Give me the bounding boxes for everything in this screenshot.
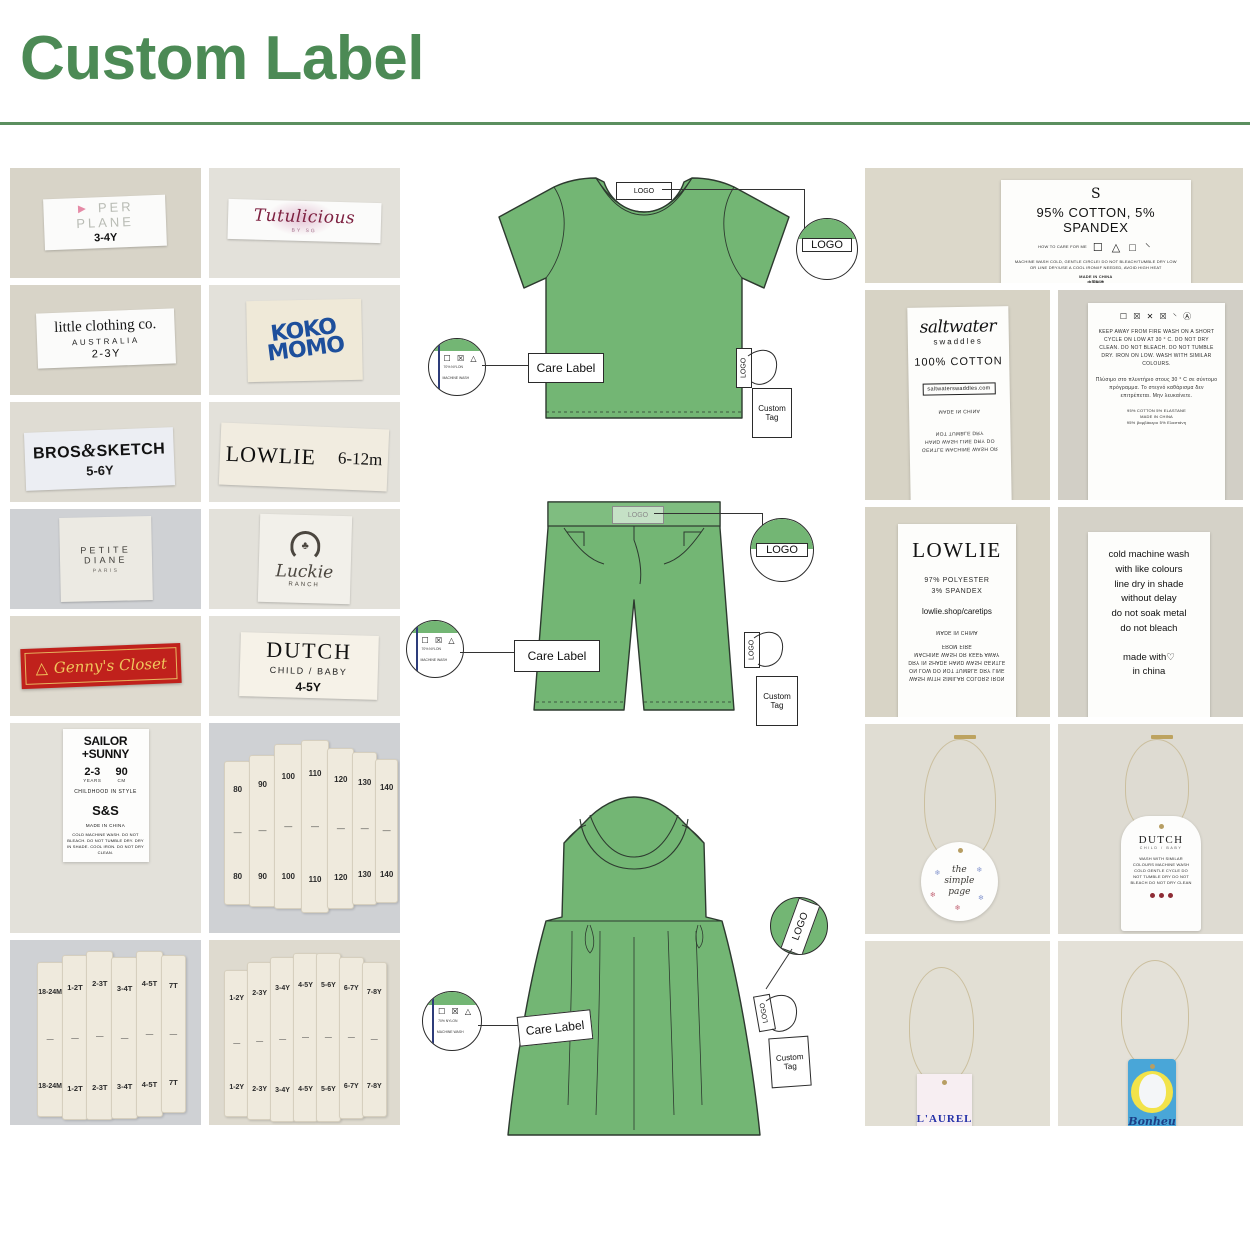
ribbon-roll: 7-8Y — 7-8Y	[362, 962, 387, 1117]
little-clothing-country: AUSTRALIA	[72, 336, 140, 348]
ribbon-size: 90	[258, 872, 267, 881]
ribbon-dash: —	[337, 824, 345, 833]
composition-greek: 95% βαμβάκερο 5% Ελαστάνη	[1094, 420, 1220, 426]
photo-tile-dutch-child-baby[interactable]: DUTCH CHILD / BABY 4-5Y	[209, 616, 400, 716]
made-with-text: made with	[1123, 652, 1166, 663]
photo-tile-luckie-ranch[interactable]: ♣ Luckie RANCH	[209, 509, 400, 609]
care-label-closeup: ☐ ☒ △ 70% NYLON MACHINE WASH	[423, 992, 481, 1050]
sailor-size-age-block: 2-3 YEARS	[83, 766, 101, 783]
sailor-size-cm: 90	[116, 766, 128, 778]
photo-tile-koko-momo[interactable]: KOKO MOMO	[209, 285, 400, 395]
photo-tile-laurel-hangtag[interactable]: L'AUREL	[865, 941, 1050, 1126]
ribbon-size: 110	[309, 875, 322, 884]
composition-text: 100% COTTON	[913, 355, 1006, 369]
flower-icon: ❄	[930, 891, 936, 899]
ribbon-dash: —	[348, 1034, 355, 1041]
ribbon-roll: 5-6Y — 5-6Y	[316, 953, 341, 1122]
composition-line2: 3% SPANDEX	[903, 586, 1010, 597]
simple-page-text: the simple page	[944, 865, 974, 899]
tshirt-logo-zoom-circle: LOGO	[796, 218, 858, 280]
gallery-row: SAILOR +SUNNY 2-3 YEARS 90 CM CHILDHOOD …	[10, 723, 400, 933]
dutch-care-text: WASH WITH SIMILAR COLOURS MACHINE WASH C…	[1126, 856, 1196, 886]
little-clothing-brand: little clothing co.	[54, 316, 157, 337]
ribbon-size: 90	[258, 780, 267, 789]
ribbon-roll: 7T — 7T	[161, 955, 186, 1113]
ribbon-size: 18-24M	[38, 989, 62, 996]
ribbon-size: 100	[282, 872, 295, 881]
shorts-logo-zoom-circle: LOGO	[750, 518, 814, 582]
ribbon-size: 2-3T	[92, 979, 107, 988]
care-label-edge	[432, 997, 434, 1047]
custom-label-catalog-page: Custom Label ► PER PLANE 3-4Y Tutuliciou…	[0, 0, 1250, 1250]
ribbon-dash: —	[325, 1034, 332, 1041]
clover-icon: ♣	[301, 540, 309, 552]
center-technical-drawings: LOGO LOGO ☐ ☒ △ 70% NYLON MACHINE WASH C…	[404, 160, 864, 1170]
ribbon-size: 120	[334, 873, 347, 882]
lowlie-label: LOWLIE 6-12m	[219, 423, 390, 492]
dutch-child-baby-label: DUTCH CHILD / BABY 4-5Y	[239, 632, 378, 700]
ribbon-size: 3-4T	[117, 1082, 132, 1091]
ribbon-size: 6-7Y	[344, 1083, 359, 1090]
care-composition: 70% NYLON	[438, 1019, 457, 1024]
tshirt-svg	[404, 160, 864, 480]
luckie-ranch-label: ♣ Luckie RANCH	[257, 514, 351, 605]
wash-symbols: ☐ ☒ △	[422, 636, 457, 645]
sailor-origin: MADE IN CHINA	[67, 823, 145, 828]
ribbon-size: 80	[233, 785, 242, 794]
care-instructions-english: KEEP AWAY FROM FIRE WASH ON A SHORT CYCL…	[1094, 328, 1220, 368]
ribbon-size: 2-3T	[92, 1083, 107, 1092]
ribbon-size: 1-2Y	[229, 995, 244, 1002]
ribbon-roll: 90 — 90	[249, 755, 276, 908]
ribbon-dash: —	[259, 826, 267, 835]
ribbon-size: 130	[358, 870, 371, 879]
care-instructions: MACHINE WASH	[437, 1030, 464, 1035]
dot-icon	[1168, 893, 1173, 898]
ribbon-roll: 18-24M — 18-24M	[37, 962, 64, 1117]
laurel-brand: L'AUREL	[917, 1113, 973, 1125]
ribbon-size: 140	[380, 783, 393, 792]
care-line: with like colours	[1092, 563, 1207, 578]
photo-tile-multilingual-care-label[interactable]: ☐ ☒ ✕ ☒ ⸌ Ⓐ KEEP AWAY FROM FIRE WASH ON …	[1058, 290, 1243, 500]
gallery-row: little clothing co. AUSTRALIA 2-3Y KOKO …	[10, 285, 400, 395]
ribbon-dash: —	[371, 1036, 378, 1043]
tag-hole	[958, 848, 963, 853]
heart-icon: ♡	[1166, 652, 1175, 663]
paper-plane-triangle-icon: ►	[76, 200, 92, 216]
photo-tile-lowlie[interactable]: LOWLIE 6-12m	[209, 402, 400, 502]
wash-symbols: ☐ ☒ △	[444, 354, 479, 363]
ribbon-dash: —	[146, 1029, 154, 1038]
photo-tile-sailor-sunny[interactable]: SAILOR +SUNNY 2-3 YEARS 90 CM CHILDHOOD …	[10, 723, 201, 933]
care-label-closeup: ☐ ☒ △ 70% NYLON MACHINE WASH	[429, 339, 485, 395]
origin-text: MADE IN CHINA	[913, 406, 1006, 416]
gold-bar-icon	[954, 735, 976, 739]
care-line: cold machine wash	[1092, 548, 1207, 563]
dot-icon	[1150, 893, 1155, 898]
photo-tile-bonheur-hangtag[interactable]: Bonheur	[1058, 941, 1243, 1126]
tutulicious-brand: Tutulicious	[254, 206, 356, 229]
dutch-size: 4-5Y	[295, 680, 321, 695]
ribbon-size: 7T	[169, 1078, 178, 1087]
zoom-logo-label: LOGO	[802, 238, 852, 252]
photo-tile-size-ribbon-rolls-cm[interactable]: 80 — 80 90 — 90 100 — 100	[209, 723, 400, 933]
page-title: Custom Label	[20, 28, 424, 90]
gallery-row: 18-24M — 18-24M 1-2T — 1-2T 2-3T — 2-3T	[10, 940, 400, 1125]
ribbon-roll-group-youth: 1-2Y — 1-2Y 2-3Y — 2-3Y 3-4Y — 3-4Y	[209, 940, 400, 1125]
petite-diane-brand: PETITE DIANE	[59, 544, 151, 566]
ribbon-size: 1-2T	[67, 983, 82, 992]
simple-page-round-hangtag: ❄ ❄ ❄ ❄ ❄ the simple page	[921, 842, 999, 922]
ribbon-size: 2-3Y	[252, 1086, 267, 1093]
bros-sketch-ampersand: &	[81, 440, 97, 462]
photo-tile-size-ribbon-rolls-toddler[interactable]: 18-24M — 18-24M 1-2T — 1-2T 2-3T — 2-3T	[10, 940, 201, 1125]
tshirt-care-label-callout: Care Label	[528, 353, 604, 383]
gallery-row: S 95% COTTON, 5% SPANDEX HOW TO CARE FOR…	[865, 168, 1243, 283]
ribbon-size: 110	[309, 769, 322, 778]
ribbon-roll: 1-2Y — 1-2Y	[224, 970, 249, 1117]
bonheur-brand: Bonheur	[1128, 1115, 1176, 1126]
ribbon-size: 100	[282, 772, 295, 781]
dutch-subtitle: CHILD / BABY	[269, 665, 347, 677]
shorts-technical-drawing[interactable]: LOGO LOGO ☐ ☒ △ 70% NYLON MACHINE WASH C…	[404, 480, 864, 765]
care-label-edge	[438, 343, 440, 391]
wash-symbols: ☐ ☒ ✕ ☒ ⸌ Ⓐ	[1094, 311, 1220, 322]
bros-sketch-right: SKETCH	[96, 440, 165, 460]
ribbon-roll-group-toddler: 18-24M — 18-24M 1-2T — 1-2T 2-3T — 2-3T	[10, 940, 201, 1125]
bonheur-hangtag: Bonheur	[1128, 1059, 1176, 1126]
composition-line1: 97% POLYESTER	[903, 575, 1010, 586]
composition-text: 95% COTTON, 5% SPANDEX	[1005, 205, 1186, 235]
tag-line2: simple	[944, 876, 974, 887]
lowlie-brand: LOWLIE	[226, 441, 317, 471]
dot-icon	[1159, 893, 1164, 898]
paper-plane-brand: ► PER PLANE	[44, 198, 167, 233]
ribbon-dash: —	[383, 826, 391, 835]
bros-sketch-left: BROS	[33, 444, 82, 463]
custom-tag-line2: Tag	[766, 413, 779, 422]
koko-momo-brand: KOKO MOMO	[264, 318, 345, 365]
tag-hole	[942, 1080, 947, 1085]
ribbon-size: 130	[358, 778, 371, 787]
photo-tile-bros-sketch[interactable]: BROS&SKETCH 5-6Y	[10, 402, 201, 502]
care-instructions: MACHINE WASH	[420, 658, 447, 663]
photo-tile-saltwater-swaddles[interactable]: saltwater swaddles 100% COTTON saltwater…	[865, 290, 1050, 500]
gallery-row: △ Genny's Closet DUTCH CHILD / BABY 4-5Y	[10, 616, 400, 716]
cotton-spandex-care-label: S 95% COTTON, 5% SPANDEX HOW TO CARE FOR…	[1001, 180, 1190, 284]
tshirt-technical-drawing[interactable]: LOGO LOGO ☐ ☒ △ 70% NYLON MACHINE WASH C…	[404, 160, 864, 480]
bonheur-brand-wrap: Bonheur	[1128, 1112, 1176, 1126]
in-china-text: in china	[1092, 665, 1207, 680]
shorts-care-label-callout: Care Label	[514, 640, 600, 672]
tag-hole	[1159, 824, 1164, 829]
zoom-green-band	[797, 219, 857, 239]
flower-icon: ❄	[976, 866, 982, 874]
tshirt-care-zoom-circle: ☐ ☒ △ 70% NYLON MACHINE WASH	[428, 338, 486, 396]
sailor-size-age-unit: YEARS	[83, 778, 101, 783]
tag-line3: page	[944, 887, 974, 898]
ribbon-size: 1-2T	[67, 1084, 82, 1093]
ribbon-dash: —	[170, 1029, 178, 1038]
gallery-row: BROS&SKETCH 5-6Y LOWLIE 6-12m	[10, 402, 400, 502]
leader-line	[460, 652, 516, 653]
care-instructions-greek: Πλύσιμο στο πλυντήριο στους 30 ° C σε σύ…	[1094, 376, 1220, 400]
sailor-monogram: S&S	[67, 805, 145, 817]
ribbon-size: 5-6Y	[321, 1086, 336, 1093]
custom-tag-line1: Custom	[758, 404, 786, 413]
tshirt-neck-logo-box: LOGO	[616, 182, 672, 200]
lowlie-size: 6-12m	[338, 448, 383, 470]
gallery-row: L'AUREL Bonheur	[865, 941, 1243, 1126]
ribbon-size: 1-2Y	[229, 1084, 244, 1091]
gallery-row: ❄ ❄ ❄ ❄ ❄ the simple page DUTCH	[865, 724, 1243, 934]
gold-bar-icon	[1151, 735, 1173, 739]
ribbon-roll: 80 — 80	[224, 761, 251, 905]
care-label-closeup: ☐ ☒ △ 70% NYLON MACHINE WASH	[407, 621, 463, 677]
ribbon-dash: —	[234, 828, 242, 837]
brand-monogram: S	[1005, 186, 1186, 202]
ribbon-size: 140	[380, 870, 393, 879]
ribbon-dash: —	[47, 1036, 54, 1043]
how-to-care-text: HOW TO CARE FOR ME	[1038, 244, 1087, 250]
photo-tile-gennys-closet[interactable]: △ Genny's Closet	[10, 616, 201, 716]
ribbon-roll: 4-5T — 4-5T	[136, 951, 163, 1117]
lowlie-url: lowlie.shop/caretips	[903, 607, 1010, 616]
sailor-size-cm-unit: CM	[116, 778, 128, 783]
leader-line	[662, 189, 804, 190]
sailor-size-row: 2-3 YEARS 90 CM	[67, 766, 145, 783]
gallery-row: PETITE DIANE PARIS ♣ Luckie RANCH	[10, 509, 400, 609]
care-instructions: WASH WITH SIMILAR COLORS IRON ON LOW DO …	[903, 642, 1010, 682]
ribbon-size: 3-4Y	[275, 1087, 290, 1094]
dutch-subtitle: CHILD / BABY	[1126, 846, 1196, 850]
photo-tile-lowlie-care-label[interactable]: LOWLIE 97% POLYESTER 3% SPANDEX lowlie.s…	[865, 507, 1050, 717]
luckie-subtitle: RANCH	[288, 581, 319, 588]
care-instructions: MACHINE WASH COLD, GENTLE CIRCLE/ DO NOT…	[1005, 259, 1186, 271]
care-instructions: GENTLE MACHINE WASH OR HAND WASH LINE DR…	[914, 428, 1007, 454]
photo-tile-tutulicious[interactable]: Tutulicious BY SG	[209, 168, 400, 278]
hangtag-string	[909, 967, 974, 1084]
laurel-hangtag: L'AUREL	[917, 1074, 973, 1126]
ribbon-roll: 120 — 120	[327, 748, 354, 909]
lowlie-brand: LOWLIE	[903, 538, 1010, 563]
origin-text: MADE IN CHINA	[903, 628, 1010, 636]
lowlie-care-label: LOWLIE 97% POLYESTER 3% SPANDEX lowlie.s…	[898, 524, 1015, 717]
custom-tag-line2: Tag	[784, 1062, 798, 1072]
care-label-edge	[416, 625, 418, 673]
gallery-row: saltwater swaddles 100% COTTON saltwater…	[865, 290, 1243, 500]
ribbon-size: 5-6Y	[321, 982, 336, 989]
photo-tile-petite-diane[interactable]: PETITE DIANE PARIS	[10, 509, 201, 609]
ribbon-size: 80	[233, 872, 242, 881]
care-composition: 70% NYLON	[422, 647, 441, 652]
tag-loop	[750, 626, 810, 682]
ribbon-roll: 4-5Y — 4-5Y	[293, 953, 318, 1122]
leader-line	[478, 1025, 522, 1026]
flower-icon: ❄	[955, 904, 961, 912]
ribbon-dash: —	[233, 1040, 240, 1047]
sailor-size-age: 2-3	[83, 766, 101, 778]
zoom-logo-label: LOGO	[756, 543, 808, 557]
ribbon-size: 2-3Y	[252, 990, 267, 997]
ribbon-size: 4-5T	[142, 979, 157, 988]
sailor-size-cm-block: 90 CM	[116, 766, 128, 783]
ribbon-dash: —	[302, 1034, 309, 1041]
dutch-brand: DUTCH	[1126, 834, 1196, 846]
photo-tile-cotton-spandex-care-label[interactable]: S 95% COTTON, 5% SPANDEX HOW TO CARE FOR…	[865, 168, 1243, 283]
ribbon-roll: 3-4Y — 3-4Y	[270, 957, 295, 1123]
paper-plane-label: ► PER PLANE 3-4Y	[43, 194, 167, 249]
page-header: Custom Label	[0, 0, 1250, 128]
ribbon-dash: —	[279, 1036, 286, 1043]
multilingual-care-label: ☐ ☒ ✕ ☒ ⸌ Ⓐ KEEP AWAY FROM FIRE WASH ON …	[1088, 303, 1226, 500]
photo-tile-cold-machine-wash-label[interactable]: cold machine wash with like colours line…	[1058, 507, 1243, 717]
care-composition: 70% NYLON	[444, 365, 463, 370]
ribbon-dash: —	[96, 1031, 104, 1040]
leader-line	[654, 513, 762, 514]
flower-icon: ❄	[978, 894, 984, 902]
gallery-row: LOWLIE 97% POLYESTER 3% SPANDEX lowlie.s…	[865, 507, 1243, 717]
care-line: do not soak metal	[1092, 607, 1207, 622]
horseshoe-icon: ♣	[289, 530, 320, 561]
care-dots	[1126, 893, 1196, 898]
photo-tile-little-clothing-co[interactable]: little clothing co. AUSTRALIA 2-3Y	[10, 285, 201, 395]
care-line: line dry in shade	[1092, 578, 1207, 593]
ribbon-size: 3-4Y	[275, 985, 290, 992]
ribbon-roll: 3-4T — 3-4T	[111, 957, 138, 1119]
photo-tile-paper-plane[interactable]: ► PER PLANE 3-4Y	[10, 168, 201, 278]
ribbon-size: 18-24M	[38, 1083, 62, 1090]
ribbon-dash: —	[311, 822, 319, 831]
luckie-brand: Luckie	[275, 561, 333, 583]
tutulicious-label: Tutulicious BY SG	[228, 199, 382, 243]
koko-momo-line2: MOMO	[266, 336, 345, 364]
dress-custom-tag-callout: Custom Tag	[768, 1036, 811, 1089]
dress-care-zoom-circle: ☐ ☒ △ 70% NYLON MACHINE WASH	[422, 991, 482, 1051]
tshirt-custom-tag-callout: Custom Tag	[752, 388, 792, 438]
saltwater-url: saltwaterswaddles.com	[923, 382, 996, 395]
shorts-custom-tag-callout: Custom Tag	[756, 676, 798, 726]
gennys-closet-label: △ Genny's Closet	[21, 643, 183, 689]
right-label-gallery: S 95% COTTON, 5% SPANDEX HOW TO CARE FOR…	[865, 168, 1243, 1133]
saltwater-swaddles-label: saltwater swaddles 100% COTTON saltwater…	[908, 306, 1012, 500]
zoom-logo-label: LOGO	[790, 912, 810, 943]
ribbon-roll: 1-2T — 1-2T	[62, 955, 89, 1121]
custom-tag-line1: Custom	[763, 692, 791, 701]
paper-plane-size: 3-4Y	[94, 231, 118, 244]
koko-momo-label: KOKO MOMO	[246, 299, 362, 383]
dress-technical-drawing[interactable]: LOGO LOGO Custom Tag ☐ ☒ △ 70% NYLON	[404, 785, 864, 1170]
care-instructions: MACHINE WASH	[442, 376, 469, 381]
wash-symbols: ☐ ☒ △	[438, 1007, 473, 1016]
gallery-row: ► PER PLANE 3-4Y Tutulicious BY SG	[10, 168, 400, 278]
photo-tile-simple-page-hangtag[interactable]: ❄ ❄ ❄ ❄ ❄ the simple page	[865, 724, 1050, 934]
ribbon-roll: 100 — 100	[274, 744, 303, 909]
bros-sketch-size: 5-6Y	[86, 462, 114, 478]
ribbon-dash: —	[71, 1033, 79, 1042]
dutch-arch-hangtag: DUTCH CHILD / BABY WASH WITH SIMILAR COL…	[1121, 816, 1201, 931]
ribbon-size: 4-5T	[142, 1080, 157, 1089]
shorts-care-zoom-circle: ☐ ☒ △ 70% NYLON MACHINE WASH	[406, 620, 464, 678]
sailor-sunny-label: SAILOR +SUNNY 2-3 YEARS 90 CM CHILDHOOD …	[63, 729, 149, 862]
petite-diane-label: PETITE DIANE PARIS	[59, 516, 152, 602]
shorts-waistband-logo-box: LOGO	[612, 506, 664, 524]
ribbon-size: 4-5Y	[298, 1086, 313, 1093]
bros-sketch-brand: BROS&SKETCH	[33, 437, 166, 464]
photo-tile-dutch-arch-hangtag[interactable]: DUTCH CHILD / BABY WASH WITH SIMILAR COL…	[1058, 724, 1243, 934]
sailor-care-instructions: COLD MACHINE WASH. DO NOT BLEACH. DO NOT…	[67, 832, 145, 856]
hangtag-string	[1121, 960, 1190, 1069]
ribbon-size: 7T	[169, 981, 178, 990]
dutch-brand: DUTCH	[265, 637, 351, 665]
leader-line	[482, 365, 530, 366]
ribbon-size: 7-8Y	[367, 1083, 382, 1090]
little-clothing-co-label: little clothing co. AUSTRALIA 2-3Y	[36, 309, 176, 369]
ribbon-dash: —	[284, 822, 292, 831]
elephant-icon	[1139, 1074, 1166, 1108]
custom-tag-line2: Tag	[771, 701, 784, 710]
tag-line1: the	[944, 865, 974, 876]
ribbon-roll: 110 — 110	[301, 740, 330, 914]
ribbon-dash: —	[256, 1038, 263, 1045]
tag-hole	[1150, 1064, 1155, 1069]
sailor-tagline: CHILDHOOD IN STYLE	[67, 789, 145, 795]
ribbon-size: 120	[334, 775, 347, 784]
tutulicious-subtitle: BY SG	[292, 228, 317, 235]
cold-machine-wash-label: cold machine wash with like colours line…	[1088, 532, 1211, 717]
little-clothing-size: 2-3Y	[91, 347, 121, 360]
ribbon-roll: 2-3T — 2-3T	[86, 951, 113, 1120]
ribbon-size: 7-8Y	[367, 989, 382, 996]
saltwater-brand: saltwater	[912, 316, 1005, 338]
origin-chinese: 中国制造	[1005, 280, 1186, 284]
ribbon-roll: 140 — 140	[375, 759, 398, 903]
ribbon-roll: 6-7Y — 6-7Y	[339, 957, 364, 1119]
ribbon-roll: 2-3Y — 2-3Y	[247, 962, 272, 1120]
ribbon-dash: —	[361, 824, 369, 833]
saltwater-brand-sub: swaddles	[912, 336, 1005, 347]
ribbon-size: 6-7Y	[344, 985, 359, 992]
left-label-gallery: ► PER PLANE 3-4Y Tutulicious BY SG littl…	[10, 168, 400, 1132]
label-inner-border	[25, 647, 179, 685]
wash-symbols: ☐ △ □ ⸌	[1093, 240, 1154, 255]
photo-tile-size-ribbon-rolls-youth[interactable]: 1-2Y — 1-2Y 2-3Y — 2-3Y 3-4Y — 3-4Y	[209, 940, 400, 1125]
ribbon-size: 4-5Y	[298, 982, 313, 989]
sailor-brand-line2: +SUNNY	[67, 748, 145, 761]
ribbon-roll: 130 — 130	[352, 752, 377, 905]
bros-sketch-label: BROS&SKETCH 5-6Y	[24, 427, 175, 491]
flower-icon: ❄	[934, 869, 940, 877]
sailor-brand-line1: SAILOR	[67, 735, 145, 748]
ribbon-dash: —	[121, 1033, 129, 1042]
ribbon-roll-group-cm: 80 — 80 90 — 90 100 — 100	[209, 723, 400, 933]
header-divider	[0, 122, 1250, 125]
ribbon-size: 3-4T	[117, 984, 132, 993]
petite-diane-subtitle: PARIS	[92, 567, 119, 574]
care-line: without delay	[1092, 592, 1207, 607]
care-line: do not bleach	[1092, 622, 1207, 637]
